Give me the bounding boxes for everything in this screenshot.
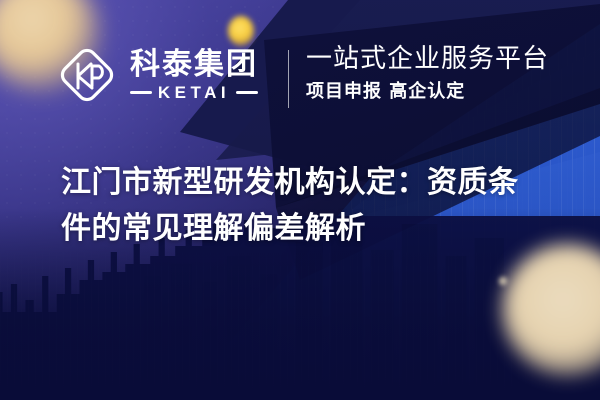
gold-orb-icon <box>228 16 254 46</box>
brand-name-cn: 科泰集团 <box>130 49 258 81</box>
ketai-kp-diamond-logo-icon <box>58 44 116 106</box>
brand-name-en-row: KETAI <box>130 84 258 101</box>
wordmark-dash-right-icon <box>236 91 258 94</box>
bokeh-spark-icon <box>498 276 508 286</box>
tagline-block: 一站式企业服务平台 项目申报 高企认定 <box>306 44 549 102</box>
tagline-main: 一站式企业服务平台 <box>306 44 549 75</box>
vertical-divider-icon <box>288 50 289 108</box>
tagline-sub: 项目申报 高企认定 <box>306 81 549 103</box>
brand-wordmark: 科泰集团 KETAI <box>130 49 258 101</box>
promo-banner: 科泰集团 KETAI 一站式企业服务平台 项目申报 高企认定 江门市新型研发机构… <box>0 0 600 400</box>
brand-name-en: KETAI <box>158 84 230 101</box>
wordmark-dash-left-icon <box>130 91 152 94</box>
brand-lockup: 科泰集团 KETAI <box>58 44 258 106</box>
page-title: 江门市新型研发机构认定：资质条件的常见理解偏差解析 <box>61 160 531 251</box>
